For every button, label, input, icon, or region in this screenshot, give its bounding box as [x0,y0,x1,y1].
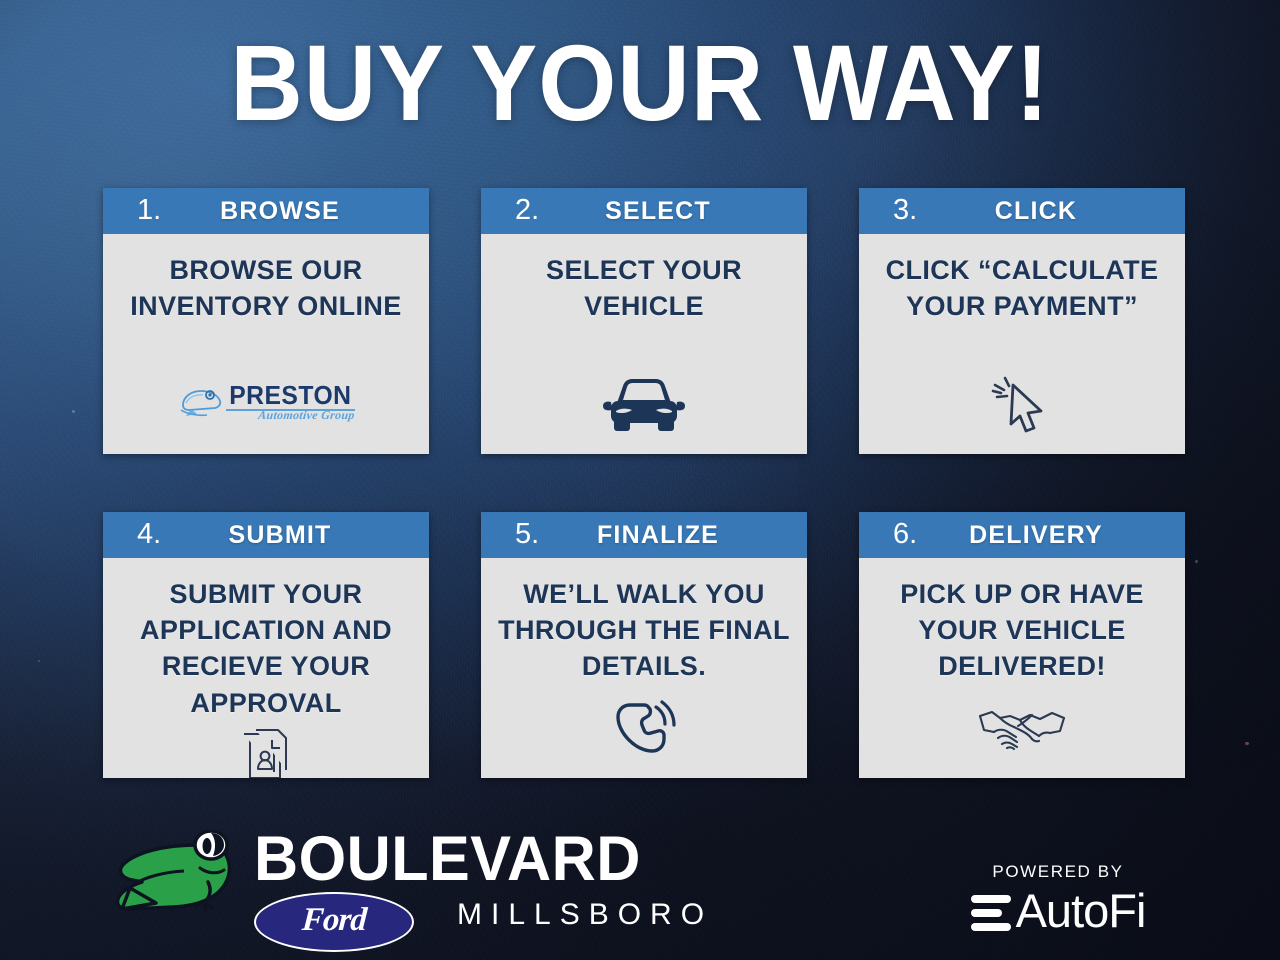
step-number: 4. [137,518,161,551]
step-number: 2. [515,194,539,227]
step-card-body: CLICK “CALCULATE YOUR PAYMENT” [859,234,1185,454]
step-description: BROWSE OUR INVENTORY ONLINE [117,252,415,324]
step-card-header: 2. SELECT [481,188,807,234]
step-card-delivery[interactable]: 6. DELIVERY PICK UP OR HAVE YOUR VEHICLE… [859,512,1185,778]
poster-canvas: BUY YOUR WAY! 1. BROWSE BROWSE OUR INVEN… [0,0,1280,960]
autofi-branding: POWERED BY AutoFi [928,862,1188,934]
background-speck [38,660,40,662]
step-description: SUBMIT YOUR APPLICATION AND RECIEVE YOUR… [117,576,415,721]
steps-grid: 1. BROWSE BROWSE OUR INVENTORY ONLINE [103,188,1185,778]
step-number: 5. [515,518,539,551]
step-card-body: WE’LL WALK YOU THROUGH THE FINAL DETAILS… [481,558,807,778]
autofi-wordmark: AutoFi [1016,887,1146,934]
step-number: 3. [893,194,917,227]
dealer-branding: BOULEVARD Ford MILLSBORO [112,824,732,942]
autofi-bars-icon [971,891,1011,931]
car-icon [601,370,687,438]
background-speck [1245,742,1249,745]
step-card-click[interactable]: 3. CLICK CLICK “CALCULATE YOUR PAYMENT” [859,188,1185,454]
phone-ringing-icon [612,694,676,762]
step-card-finalize[interactable]: 5. FINALIZE WE’LL WALK YOU THROUGH THE F… [481,512,807,778]
handshake-icon [976,694,1068,762]
background-speck [1195,560,1198,563]
step-card-body: SELECT YOUR VEHICLE [481,234,807,454]
ford-logo: Ford [254,892,414,952]
dealer-location: MILLSBORO [457,898,713,932]
preston-automotive-group-logo: PRESTON Automotive Group [177,370,355,438]
step-description: WE’LL WALK YOU THROUGH THE FINAL DETAILS… [495,576,793,685]
step-card-body: PICK UP OR HAVE YOUR VEHICLE DELIVERED! [859,558,1185,778]
step-description: PICK UP OR HAVE YOUR VEHICLE DELIVERED! [873,576,1171,685]
step-number: 6. [893,518,917,551]
background-speck [72,410,75,413]
step-number: 1. [137,194,161,227]
step-card-body: BROWSE OUR INVENTORY ONLINE PRESTON [103,234,429,454]
step-card-header: 3. CLICK [859,188,1185,234]
step-card-submit[interactable]: 4. SUBMIT SUBMIT YOUR APPLICATION AND RE… [103,512,429,778]
step-card-browse[interactable]: 1. BROWSE BROWSE OUR INVENTORY ONLINE [103,188,429,454]
preston-frog-icon [177,385,223,419]
preston-wordmark: PRESTON [229,382,351,408]
application-document-icon [238,721,294,778]
page-title: BUY YOUR WAY! [45,26,1235,139]
cursor-click-icon [989,370,1055,438]
step-card-select[interactable]: 2. SELECT SELECT YOUR VEHICLE [481,188,807,454]
powered-by-label: POWERED BY [928,862,1188,882]
preston-tagline: Automotive Group [225,408,355,423]
step-description: CLICK “CALCULATE YOUR PAYMENT” [873,252,1171,324]
step-card-body: SUBMIT YOUR APPLICATION AND RECIEVE YOUR… [103,558,429,778]
step-card-header: 4. SUBMIT [103,512,429,558]
step-card-header: 5. FINALIZE [481,512,807,558]
step-card-header: 6. DELIVERY [859,512,1185,558]
step-card-header: 1. BROWSE [103,188,429,234]
step-description: SELECT YOUR VEHICLE [495,252,793,324]
dealer-name: BOULEVARD [254,828,641,891]
footer: BOULEVARD Ford MILLSBORO POWERED BY Auto… [0,810,1280,960]
boulevard-frog-logo-icon [112,830,237,918]
ford-wordmark: Ford [301,902,367,939]
